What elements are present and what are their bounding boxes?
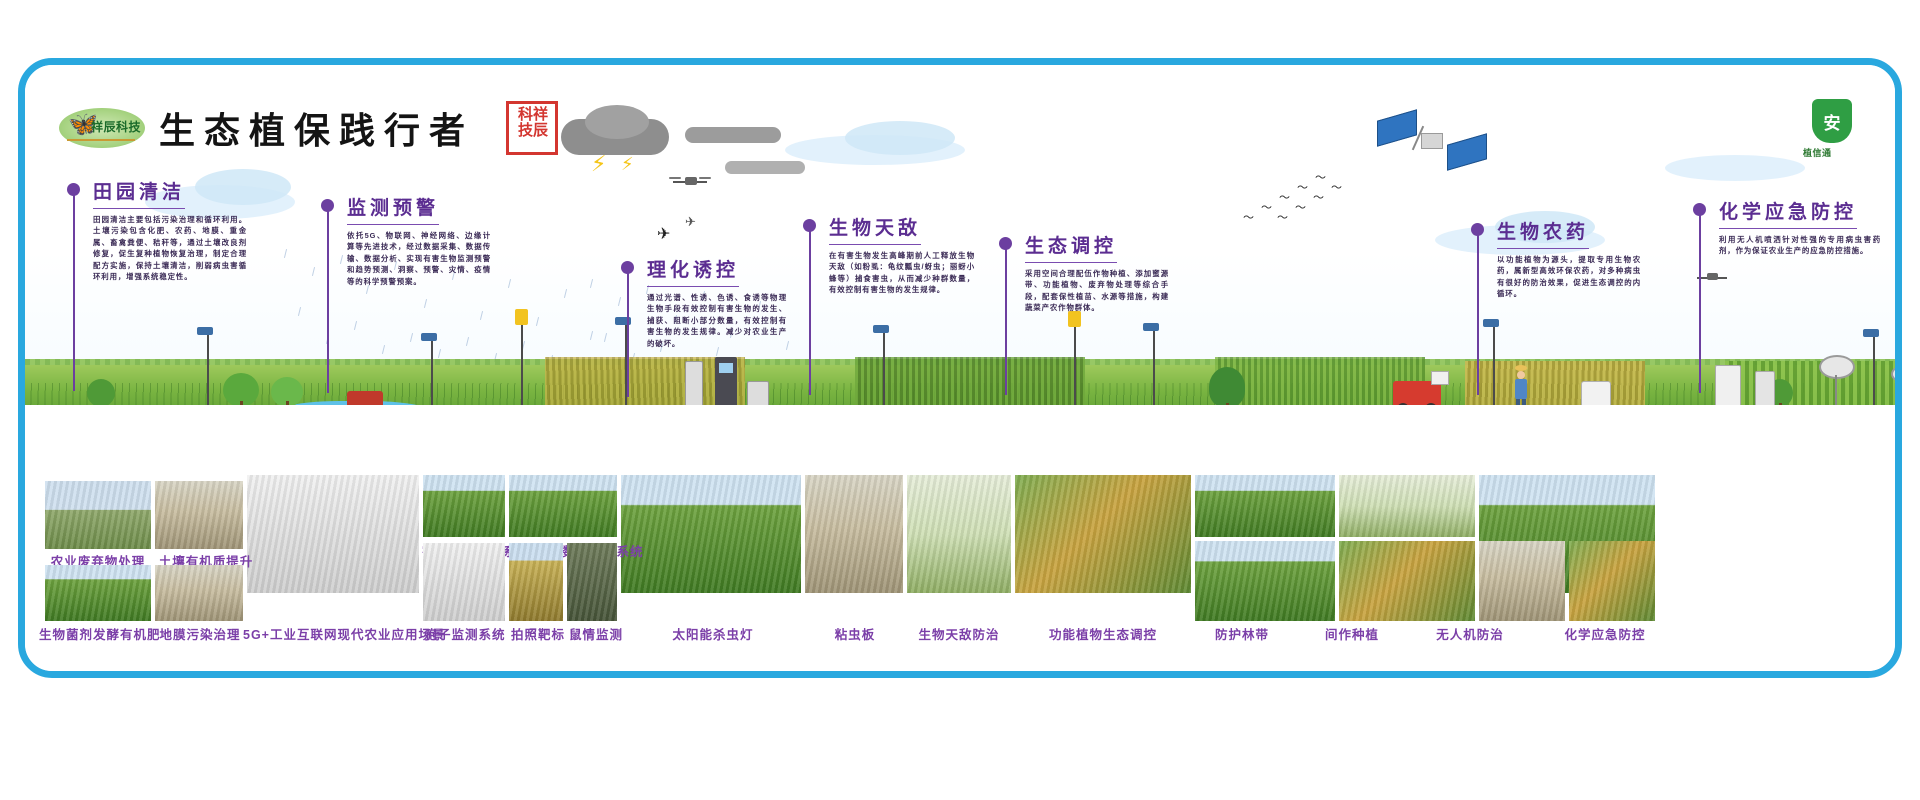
gallery-photo[interactable] [45,481,151,549]
badge-caption: 植信通 [1803,146,1832,159]
solar-panel-icon [1483,319,1499,327]
solar-panel-icon [1143,323,1159,331]
crop-band [1725,361,1895,405]
photo-caption: 化学应急防控 [1543,624,1667,643]
radar-dish-icon [1819,355,1855,379]
callout-body: 利用无人机喷洒针对性强的专用病虫害药剂，作为保证农业生产的应急防控措施。 [1719,234,1881,257]
photo-caption: 生物天敌防治 [901,624,1017,643]
cloud-shape [725,161,805,174]
callout-title: 理化诱控 [647,255,739,287]
gallery-photo[interactable] [1569,541,1655,621]
shield-icon: 安 [1812,99,1852,143]
photo-caption: 粘虫板 [807,624,903,643]
solar-panel-icon [421,333,437,341]
bird-icon: 〜 [1295,203,1306,214]
bird-icon: 〜 [1277,213,1288,224]
callout-title: 监测预警 [347,193,439,225]
sensor-pole [1493,323,1495,405]
callout-shengtai-tiaokong: 生态调控 采用空间合理配伍作物种植、添加蜜源带、功能植物、废弃物处理等综合手段，… [999,231,1169,314]
photo-caption: 无人机防治 [1415,624,1525,643]
callout-body: 通过光谱、性诱、色诱、食诱等物理生物手段有效控制有害生物的发生、捕获、阻断小部分… [647,292,787,349]
photo-caption: 间作种植 [1303,624,1401,643]
certification-badge: 安 植信通 [1803,99,1861,143]
callout-body: 田园清洁主要包括污染治理和循环利用。土壤污染包含化肥、农药、地膜、重金属、畜禽粪… [93,214,247,283]
gallery-photo[interactable] [1479,541,1565,621]
cloud-shape [685,127,781,143]
photo-caption: 地膜污染治理 [153,624,247,643]
callout-title: 生态调控 [1025,231,1117,263]
callout-stem [627,273,629,397]
photo-caption: 太阳能杀虫灯 [639,624,787,643]
gallery-photo[interactable] [509,543,563,621]
gallery-photo[interactable] [1015,475,1191,593]
cloud-shape [845,121,955,155]
sensor-pole [1153,327,1155,405]
weather-station [685,361,703,405]
harvester-icon [1431,371,1449,385]
sensor-pole [207,331,209,405]
gallery-photo[interactable] [423,475,505,537]
swallow-icon: ✈ [685,215,696,228]
tree-icon [85,365,117,405]
callout-stem [1477,235,1479,395]
gallery-photo[interactable] [155,565,243,621]
illustration-scene: ⚡ ⚡ 〜 〜 〜 〜 〜 〜 〜 〜 〜 ✈ ✈ [25,65,1895,405]
callout-huaxue-yingji-fangkong: 化学应急防控 利用无人机喷洒针对性强的专用病虫害药剂，作为保证农业生产的应急防控… [1693,197,1881,257]
gallery-photo[interactable] [1195,475,1335,537]
photo-caption: 拍照靶标 [507,624,569,643]
solar-panel-icon [1863,329,1879,337]
gallery-photo[interactable] [805,475,903,593]
callout-body: 采用空间合理配伍作物种植、添加蜜源带、功能植物、废弃物处理等综合手段，配套保性植… [1025,268,1169,314]
spray-robot [1581,381,1611,405]
gallery-photo[interactable] [423,543,505,621]
gallery-photo[interactable] [509,475,617,537]
callout-lihua-youkong: 理化诱控 通过光谱、性诱、色诱、食诱等物理生物手段有效控制有害生物的发生、捕获、… [621,255,787,349]
sensor-pole [1074,317,1076,405]
logo-text: 祥辰科技 [91,118,141,135]
photo-caption: 5G+工业互联网现代农业应用场景 [243,624,423,643]
bird-icon: 〜 [1331,183,1342,194]
callout-jiance-yujing: 监测预警 依托5G、物联网、神经网络、边缘计算等先进技术，经过数据采集、数据传输… [321,193,491,287]
gallery-photo[interactable] [907,475,1011,593]
callout-title: 生物天敌 [829,213,921,245]
gallery-photo[interactable] [1339,475,1475,537]
bird-icon: 〜 [1313,193,1324,204]
bird-icon: 〜 [1315,173,1326,184]
bird-icon: 〜 [1261,203,1272,214]
crop-band [855,357,1085,405]
solar-panel-icon [873,325,889,333]
callout-body: 依托5G、物联网、神经网络、边缘计算等先进技术，经过数据采集、数据传输、数据分析… [347,230,491,287]
callout-stem [73,195,75,391]
gallery-photo[interactable] [1339,541,1475,621]
callout-title: 田园清洁 [93,177,185,209]
callout-title: 生物农药 [1497,217,1589,249]
gallery-photo[interactable] [567,543,617,621]
farmer-figure [1513,365,1529,405]
seal-stamp: 祥辰科技 [506,101,558,155]
poster-header: 🦋 祥辰科技 生态植保践行者 祥辰科技 [59,101,558,155]
callout-stem [809,231,811,395]
callout-body: 在有害生物发生高峰期前人工释放生物天敌（如粉虱：龟纹瓢虫/蚜虫；丽蚜小蜂等）捕食… [829,250,975,296]
gallery-photo[interactable] [155,481,243,549]
photo-gallery: ZCJ 农业废弃物处理 土壤有机质提升 害虫网络测控系统 四情合一数字测控系统 … [25,415,1895,678]
crop-band [1465,361,1645,405]
callout-stem [1699,215,1701,393]
bird-icon: 〜 [1297,183,1308,194]
lightning-icon: ⚡ [621,155,634,173]
satellite-icon [1377,109,1489,181]
company-logo: 🦋 祥辰科技 [59,108,145,148]
callout-body: 以功能植物为源头，提取专用生物农药，属新型高效环保农药，对多种病虫有很好的防治效… [1497,254,1641,300]
callout-title: 化学应急防控 [1719,197,1857,229]
lightning-icon: ⚡ [591,153,606,175]
radar-dish-icon [1835,375,1837,405]
solar-panel-icon [197,327,213,335]
photo-caption: 孢子监测系统 [417,624,513,643]
sensor-pole [883,329,885,405]
gallery-photo[interactable] [1195,541,1335,621]
callout-shengwu-nongyao: 生物农药 以功能植物为源头，提取专用生物农药，属新型高效环保农药，对多种病虫有很… [1471,217,1641,300]
photo-caption: 生物菌剂发酵有机肥 [39,624,159,643]
tractor-icon [347,391,383,405]
gallery-photo[interactable] [45,565,151,621]
swallow-icon: ✈ [657,227,670,243]
control-cabinet [1755,371,1775,405]
photo-caption: 防护林带 [1193,624,1291,643]
cabinet-screen [719,363,733,373]
insect-lamp-icon [515,309,528,325]
bird-icon: 〜 [1243,213,1254,224]
bird-icon: 〜 [1279,193,1290,204]
poster-frame: ⚡ ⚡ 〜 〜 〜 〜 〜 〜 〜 〜 〜 ✈ ✈ [18,58,1902,678]
photo-caption: 鼠情监测 [565,624,627,643]
gallery-photo[interactable] [621,475,801,593]
sensor-pole [521,315,523,405]
monitoring-box [747,381,769,405]
callout-stem [1005,249,1007,395]
tree-icon [269,357,305,405]
page-title: 生态植保践行者 [159,102,474,154]
callout-tianyuan-qingjie: 田园清洁 田园清洁主要包括污染治理和循环利用。土壤污染包含化肥、农药、地膜、重金… [67,177,247,283]
tree-icon [1205,351,1249,405]
photo-caption: 功能植物生态调控 [1027,624,1179,643]
storm-cloud [585,105,649,139]
sensor-pole [431,337,433,405]
sensor-pole [1873,333,1875,405]
gallery-photo[interactable] [247,475,419,593]
callout-shengwu-tiandi: 生物天敌 在有害生物发生高峰期前人工释放生物天敌（如粉虱：龟纹瓢虫/蚜虫；丽蚜小… [803,213,975,296]
control-cabinet [1715,365,1741,405]
logo-underline [67,139,135,141]
cloud-shape [1665,155,1805,181]
callout-stem [327,211,329,393]
tree-icon [221,353,261,405]
